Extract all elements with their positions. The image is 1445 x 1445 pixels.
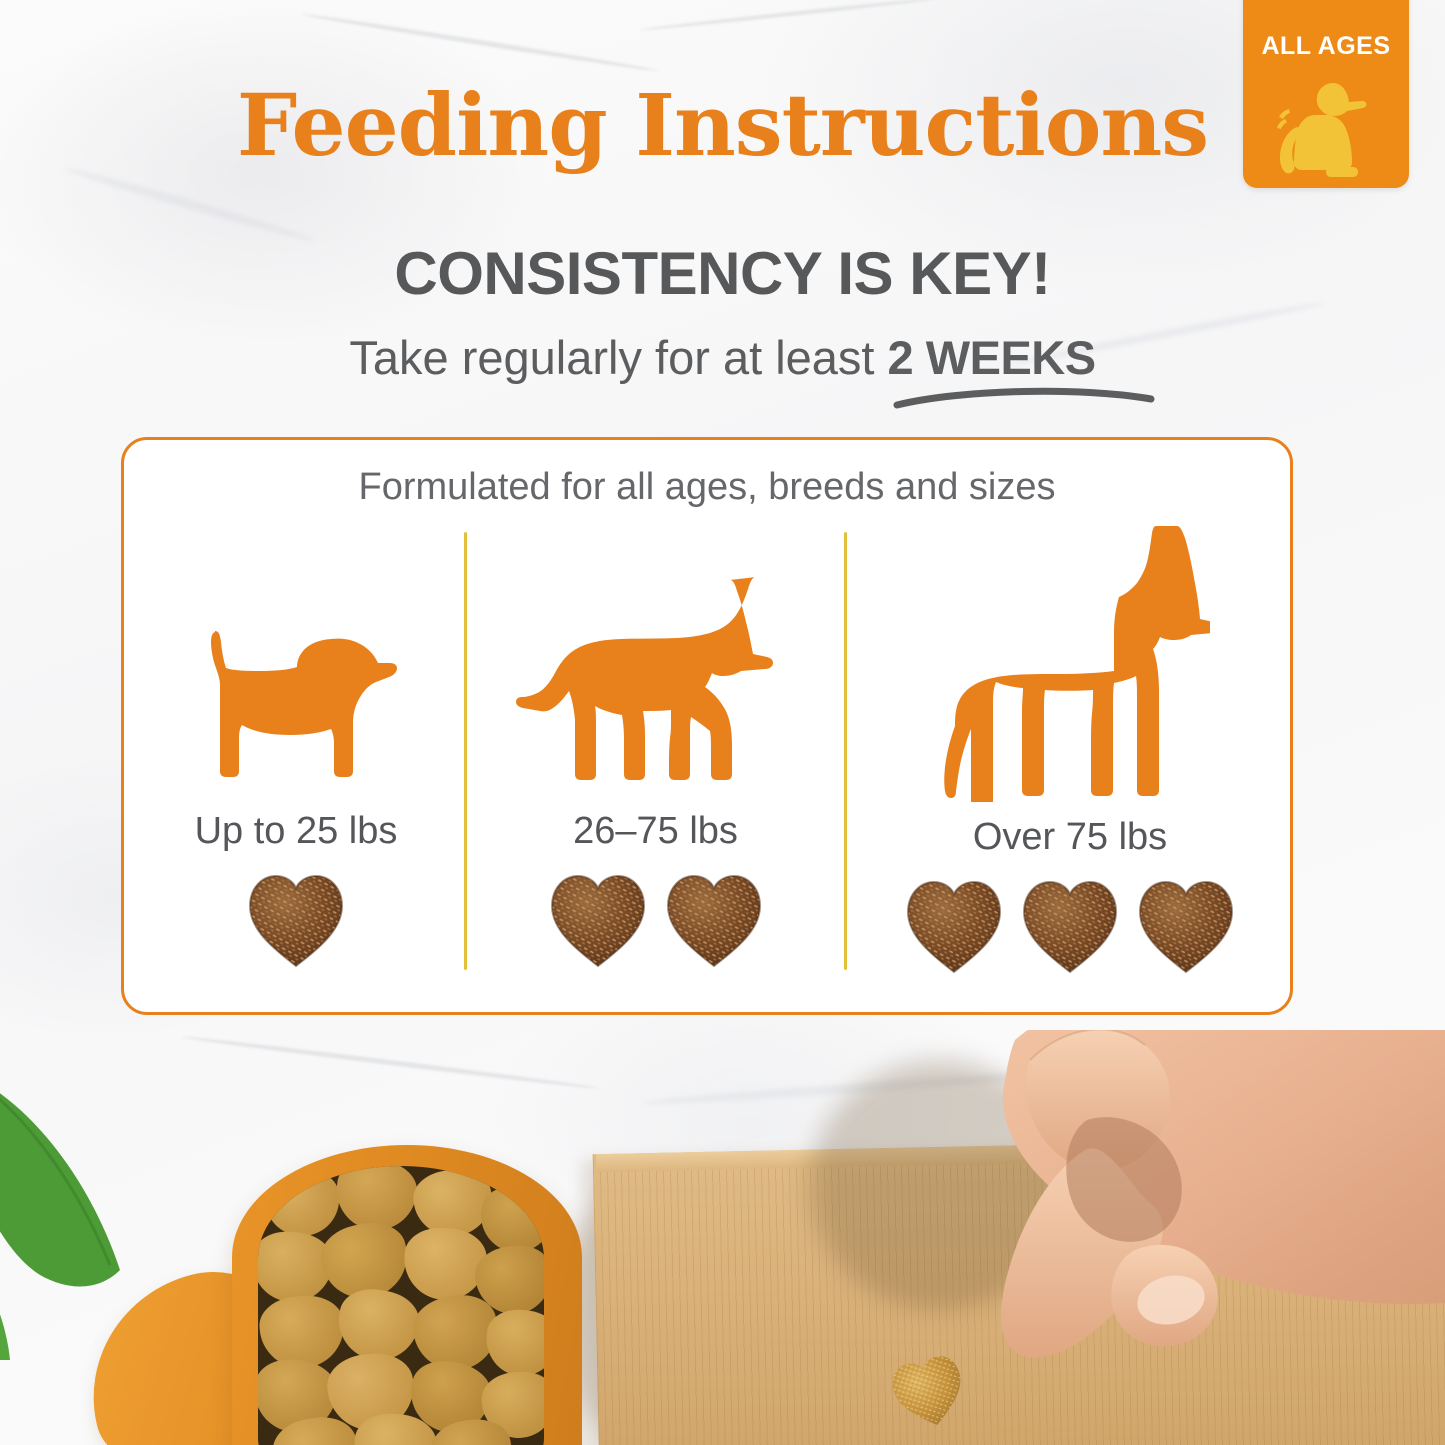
feeding-instructions-graphic: ALL AGES bbox=[0, 0, 1445, 1445]
page-title: Feeding Instructions bbox=[0, 84, 1445, 169]
large-dog-silhouette-icon bbox=[930, 532, 1210, 802]
heart-kibble-icon bbox=[1018, 876, 1122, 976]
size-label-small: Up to 25 lbs bbox=[195, 812, 398, 850]
size-column-small: Up to 25 lbs bbox=[128, 532, 464, 970]
treat-dose-large bbox=[902, 876, 1238, 976]
product-photo bbox=[0, 1030, 1445, 1445]
size-label-medium: 26–75 lbs bbox=[573, 812, 738, 850]
tagline-emphasis: 2 WEEKS bbox=[888, 331, 1096, 384]
card-subtitle: Formulated for all ages, breeds and size… bbox=[124, 468, 1290, 506]
small-dog-silhouette-icon bbox=[194, 532, 399, 796]
treat-dose-medium bbox=[546, 870, 766, 970]
all-ages-badge-label: ALL AGES bbox=[1261, 34, 1390, 59]
heart-kibble-piece bbox=[890, 1355, 968, 1429]
tagline: Take regularly for at least 2 WEEKS bbox=[0, 334, 1445, 381]
heart-kibble-icon bbox=[662, 870, 766, 970]
size-column-medium: 26–75 lbs bbox=[467, 532, 844, 970]
heart-kibble-icon bbox=[902, 876, 1006, 976]
size-column-large: Over 75 lbs bbox=[847, 532, 1293, 970]
heart-kibble-icon bbox=[546, 870, 650, 970]
tagline-prefix: Take regularly for at least bbox=[349, 331, 887, 384]
size-label-large: Over 75 lbs bbox=[973, 818, 1167, 856]
medium-dog-silhouette-icon bbox=[510, 532, 802, 796]
dosage-card: Formulated for all ages, breeds and size… bbox=[121, 437, 1293, 1015]
underline-swoosh-icon bbox=[893, 383, 1155, 409]
treat-dose-small bbox=[244, 870, 348, 970]
jar-opening bbox=[258, 1166, 544, 1445]
heart-kibble-icon bbox=[1134, 876, 1238, 976]
subtitle-heading: CONSISTENCY IS KEY! bbox=[0, 244, 1445, 304]
heart-kibble-icon bbox=[244, 870, 348, 970]
